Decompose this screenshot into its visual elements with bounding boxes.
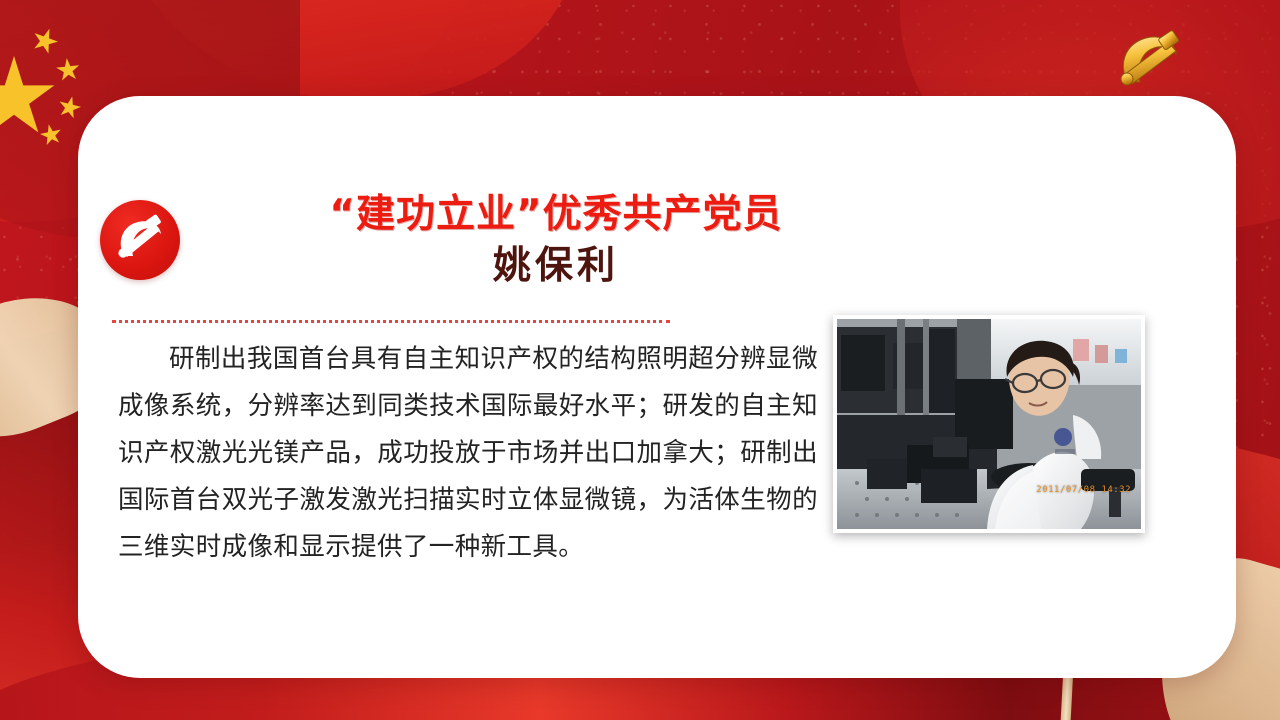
header-block: “建功立业”优秀共产党员 姚保利 <box>100 192 1120 287</box>
body-paragraph: 研制出我国首台具有自主知识产权的结构照明超分辨显微成像系统，分辨率达到同类技术国… <box>118 336 818 571</box>
page-title: “建功立业”优秀共产党员 <box>206 192 906 237</box>
flag-star-small-2-icon <box>55 57 81 83</box>
photo-timestamp: 2011/07/08 14:32 <box>1036 485 1131 495</box>
photo-content: 2011/07/08 14:32 <box>837 319 1141 529</box>
flag-star-large-icon <box>0 56 56 140</box>
flag-star-small-3-icon <box>56 94 84 122</box>
hammer-sickle-icon <box>100 200 180 280</box>
slide-root: “建功立业”优秀共产党员 姚保利 研制出我国首台具有自主知识产权的结构照明超分辨… <box>0 0 1280 720</box>
person-name: 姚保利 <box>206 243 906 287</box>
hammer-sickle-gold-icon <box>1108 26 1194 96</box>
title-group: “建功立业”优秀共产党员 姚保利 <box>206 192 906 287</box>
scientist-in-laboratory-photo: 2011/07/08 14:32 <box>833 315 1145 533</box>
dotted-divider <box>112 320 670 323</box>
content-card: “建功立业”优秀共产党员 姚保利 研制出我国首台具有自主知识产权的结构照明超分辨… <box>78 96 1236 678</box>
flag-star-small-4-icon <box>38 122 64 148</box>
flag-star-small-1-icon <box>28 24 61 57</box>
